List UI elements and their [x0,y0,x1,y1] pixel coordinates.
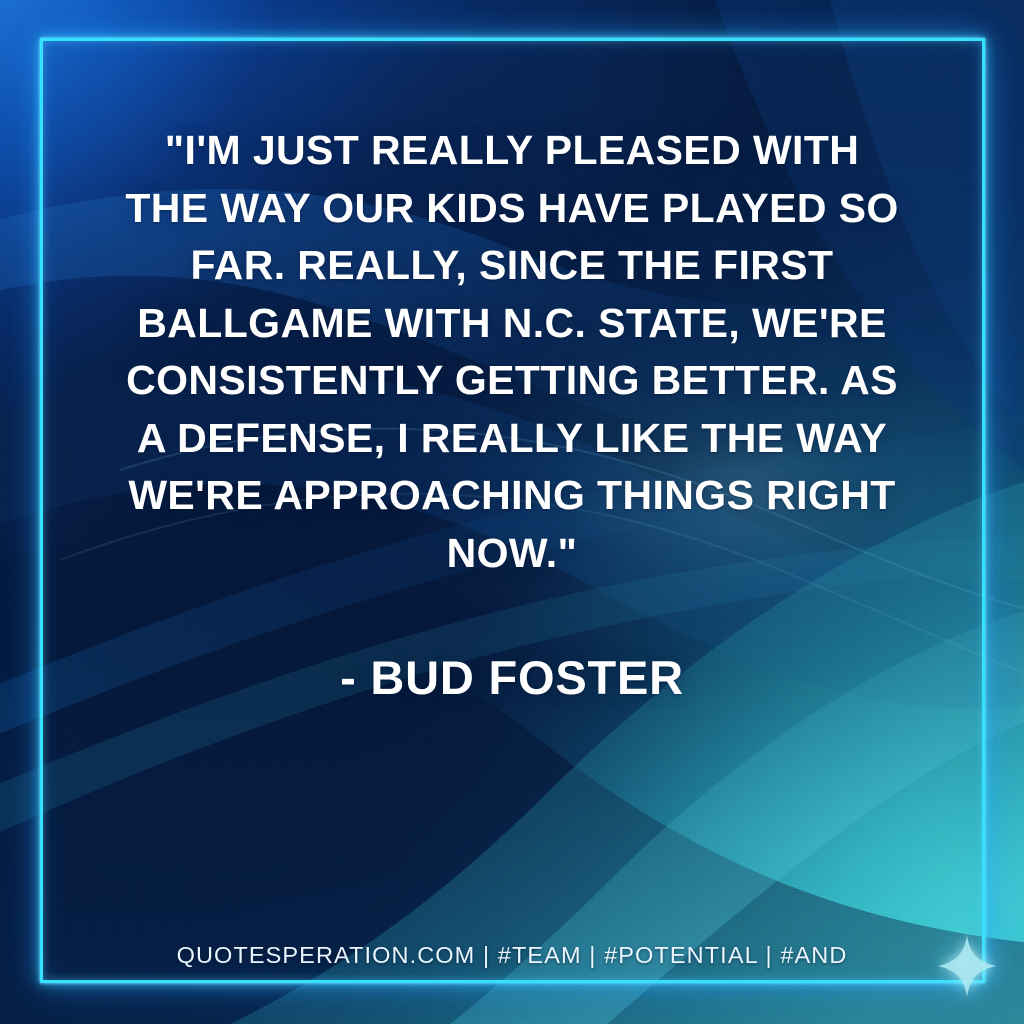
quote-card: "I'M JUST REALLY PLEASED WITH THE WAY OU… [0,0,1024,1024]
card-content: "I'M JUST REALLY PLEASED WITH THE WAY OU… [0,0,1024,1024]
footer-credit: QUOTESPERATION.COM | #TEAM | #POTENTIAL … [0,942,1024,969]
quote-attribution: - BUD FOSTER [96,650,928,705]
quote-text: "I'M JUST REALLY PLEASED WITH THE WAY OU… [96,122,928,582]
sparkle-star-icon [938,935,996,997]
